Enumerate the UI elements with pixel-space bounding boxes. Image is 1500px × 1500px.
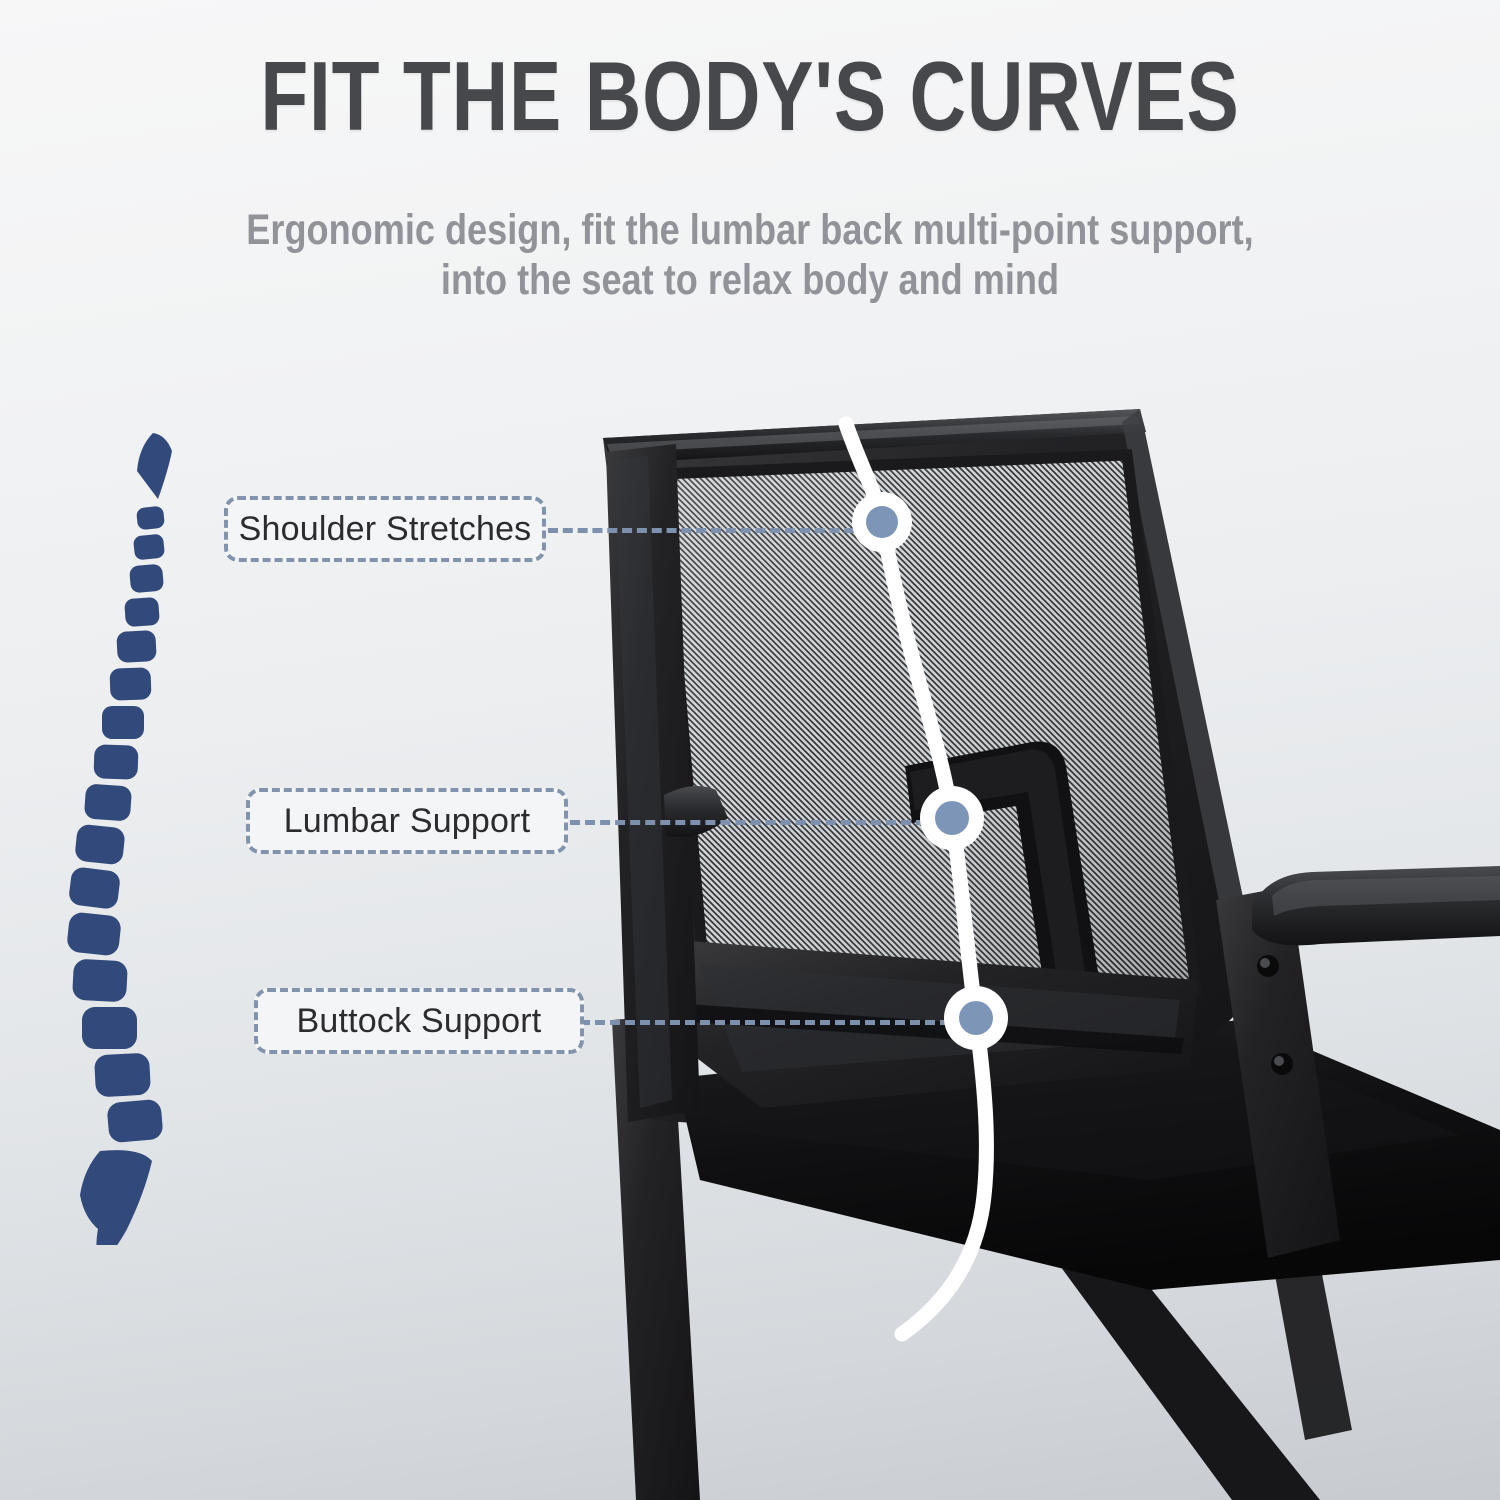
curve-marker-group [0,0,1500,1500]
callout-lumbar-support[interactable]: Lumbar Support [246,788,568,854]
infographic-canvas: Shoulder Stretches Lumbar Support Buttoc… [0,0,1500,1500]
lumbar-marker[interactable] [920,786,984,850]
callout-buttock-support[interactable]: Buttock Support [254,988,584,1054]
callout-shoulder-stretches[interactable]: Shoulder Stretches [224,496,546,562]
callout-shoulder-label: Shoulder Stretches [239,510,532,549]
buttock-marker[interactable] [944,986,1008,1050]
callout-lumbar-label: Lumbar Support [284,802,531,841]
callout-buttock-label: Buttock Support [297,1002,542,1041]
shoulder-marker[interactable] [852,492,912,552]
